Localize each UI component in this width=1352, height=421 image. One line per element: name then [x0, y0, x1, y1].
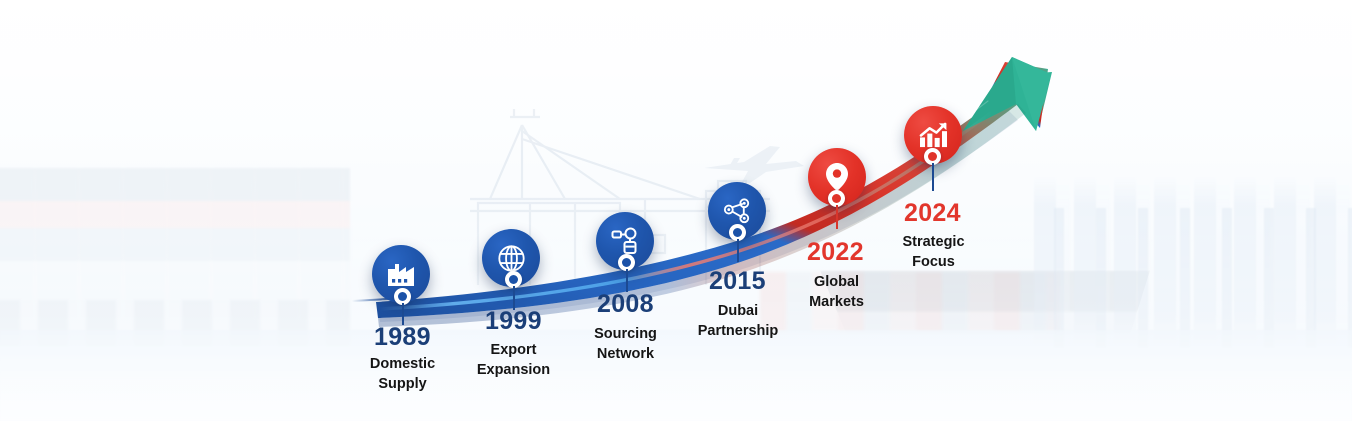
network-nodes-icon-glyph	[723, 197, 752, 226]
caption-2008: Sourcing Network	[568, 324, 683, 364]
caption-1989: Domestic Supply	[345, 354, 460, 394]
timeline-infographic: 1989 Domestic Supply 1999 Export Expansi…	[0, 0, 1352, 421]
year-1999: 1999	[485, 307, 542, 336]
stem-2024	[932, 163, 934, 191]
factory-icon-glyph	[387, 261, 415, 287]
year-2015: 2015	[709, 267, 766, 296]
year-2008: 2008	[597, 290, 654, 319]
stem-2022	[836, 205, 838, 229]
year-2024: 2024	[904, 199, 961, 228]
caption-1999: Export Expansion	[456, 340, 571, 380]
location-pin-icon-glyph	[825, 162, 849, 192]
caption-2024: Strategic Focus	[876, 232, 991, 272]
year-1989: 1989	[374, 323, 431, 352]
stem-2008	[626, 269, 628, 292]
stem-2015	[737, 239, 739, 262]
org-chart-icon-glyph	[611, 227, 639, 255]
year-2022: 2022	[807, 238, 864, 267]
caption-2022: Global Markets	[779, 272, 894, 312]
growth-chart-icon-glyph	[919, 122, 948, 149]
stem-1989	[402, 303, 404, 325]
globe-icon-glyph	[497, 244, 526, 273]
